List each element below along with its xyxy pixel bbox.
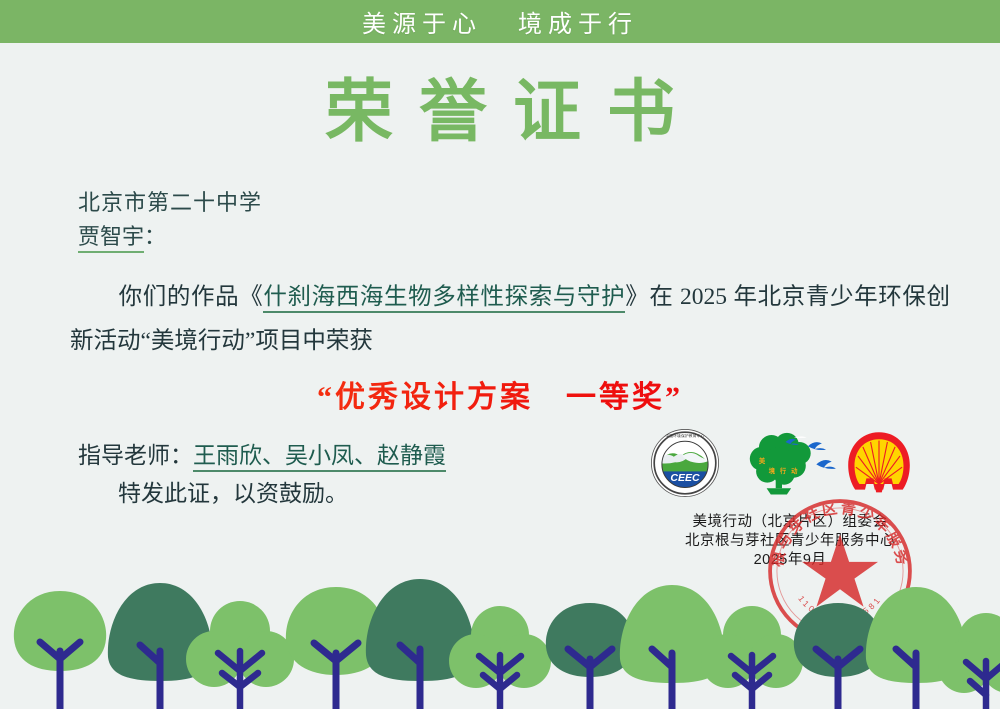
advisor-label: 指导老师： xyxy=(78,443,193,468)
svg-text:中国环境保护教育中心: 中国环境保护教育中心 xyxy=(665,433,704,438)
shell-logo-icon xyxy=(842,428,916,498)
work-close-bracket: 》 xyxy=(625,284,649,310)
certificate-page: 美源于心 境成于行 荣誉证书 北京市第二十中学 贾智宇： 你们的作品《什刹海西海… xyxy=(0,0,1000,709)
paragraph-lead: 你们的作品 xyxy=(118,284,239,310)
svg-text:行: 行 xyxy=(779,466,787,475)
recipient-line: 贾智宇： xyxy=(78,219,166,251)
advisor-line: 指导老师：王雨欣、吴小凤、赵静霞 xyxy=(78,436,446,470)
tree-group xyxy=(14,579,1000,709)
work-open-bracket: 《 xyxy=(239,284,263,310)
advisor-names: 王雨欣、吴小凤、赵静霞 xyxy=(193,443,446,472)
logo-strip: CEEC 中国环境保护教育中心 美 境 行 动 xyxy=(648,428,938,498)
closing-line: 特发此证，以资鼓励。 xyxy=(118,474,348,508)
ceec-logo-icon: CEEC 中国环境保护教育中心 xyxy=(648,428,722,498)
tree-decoration-row xyxy=(0,559,1000,709)
svg-text:美: 美 xyxy=(759,456,766,465)
meijing-action-logo-icon: 美 境 行 动 xyxy=(742,428,850,498)
award-title: “优秀设计方案 一等奖” xyxy=(0,372,1000,416)
svg-text:动: 动 xyxy=(791,466,798,475)
signature-line-2: 北京根与芽社区青少年服务中心 xyxy=(640,532,940,551)
header-banner: 美源于心 境成于行 xyxy=(0,0,1000,43)
recipient-colon: ： xyxy=(144,224,166,249)
signature-line-1: 美境行动（北京片区）组委会 xyxy=(640,513,940,532)
svg-text:境: 境 xyxy=(769,466,776,475)
banner-slogan: 美源于心 境成于行 xyxy=(362,4,638,39)
citation-paragraph: 你们的作品《什刹海西海生物多样性探索与守护》在 2025 年北京青少年环保创新活… xyxy=(70,275,950,363)
svg-text:CEEC: CEEC xyxy=(670,472,700,484)
school-name: 北京市第二十中学 xyxy=(78,185,262,217)
page-title: 荣誉证书 xyxy=(0,78,1000,146)
work-title: 什刹海西海生物多样性探索与守护 xyxy=(263,284,625,313)
recipient-name: 贾智宇 xyxy=(78,224,144,253)
